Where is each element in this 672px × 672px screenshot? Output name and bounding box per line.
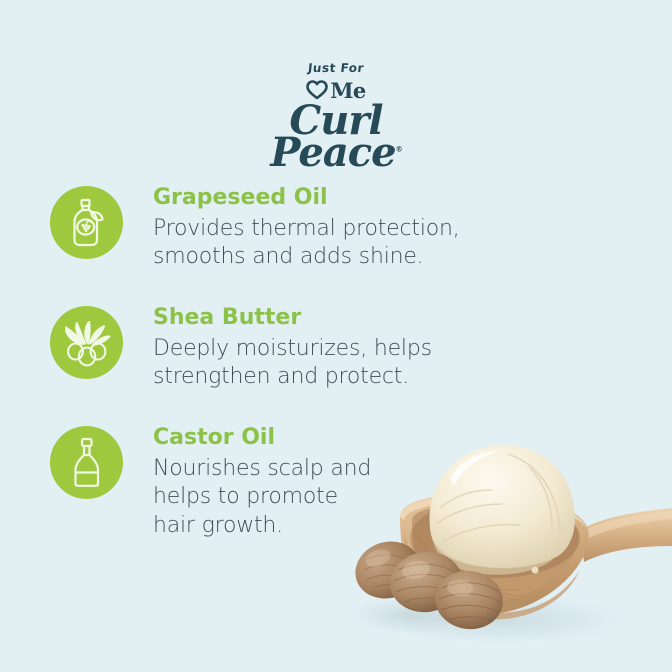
oil-bottle-grapes-icon — [64, 198, 110, 248]
castor-oil-bottle-icon — [67, 437, 107, 489]
ingredient-item-grapeseed-oil: Grapeseed Oil Provides thermal protectio… — [50, 186, 460, 272]
ingredient-item-shea-butter: Shea Butter Deeply moisturizes, helps st… — [50, 306, 432, 392]
ingredient-description: Nourishes scalp and helps to promote hai… — [153, 455, 371, 539]
ingredient-text-block: Grapeseed Oil Provides thermal protectio… — [153, 186, 460, 272]
ingredient-text-block: Castor Oil Nourishes scalp and helps to … — [153, 426, 371, 540]
ingredient-text-block: Shea Butter Deeply moisturizes, helps st… — [153, 306, 432, 392]
ingredient-icon-badge — [50, 306, 123, 379]
ingredient-item-castor-oil: Castor Oil Nourishes scalp and helps to … — [50, 426, 371, 540]
ingredient-title: Shea Butter — [153, 306, 432, 330]
ingredient-title: Castor Oil — [153, 426, 371, 450]
ingredient-icon-badge — [50, 186, 123, 259]
product-benefits-panel: Just For Me Curl Peace® — [0, 0, 672, 672]
ingredient-description: Deeply moisturizes, helps strengthen and… — [153, 335, 432, 391]
shea-butter-wooden-spoon-photo — [330, 420, 672, 672]
trademark-symbol: ® — [396, 145, 402, 154]
ingredient-title: Grapeseed Oil — [153, 186, 460, 210]
logo-peace-word: Peace — [270, 129, 395, 176]
brand-logo: Just For Me Curl Peace® — [0, 60, 672, 173]
ingredient-icon-badge — [50, 426, 123, 499]
ingredient-description: Provides thermal protection, smooths and… — [153, 215, 460, 271]
shea-nut-leaves-icon — [60, 319, 114, 367]
logo-just-for-text: Just For — [307, 62, 364, 74]
logo-peace-text: Peace® — [0, 133, 672, 173]
